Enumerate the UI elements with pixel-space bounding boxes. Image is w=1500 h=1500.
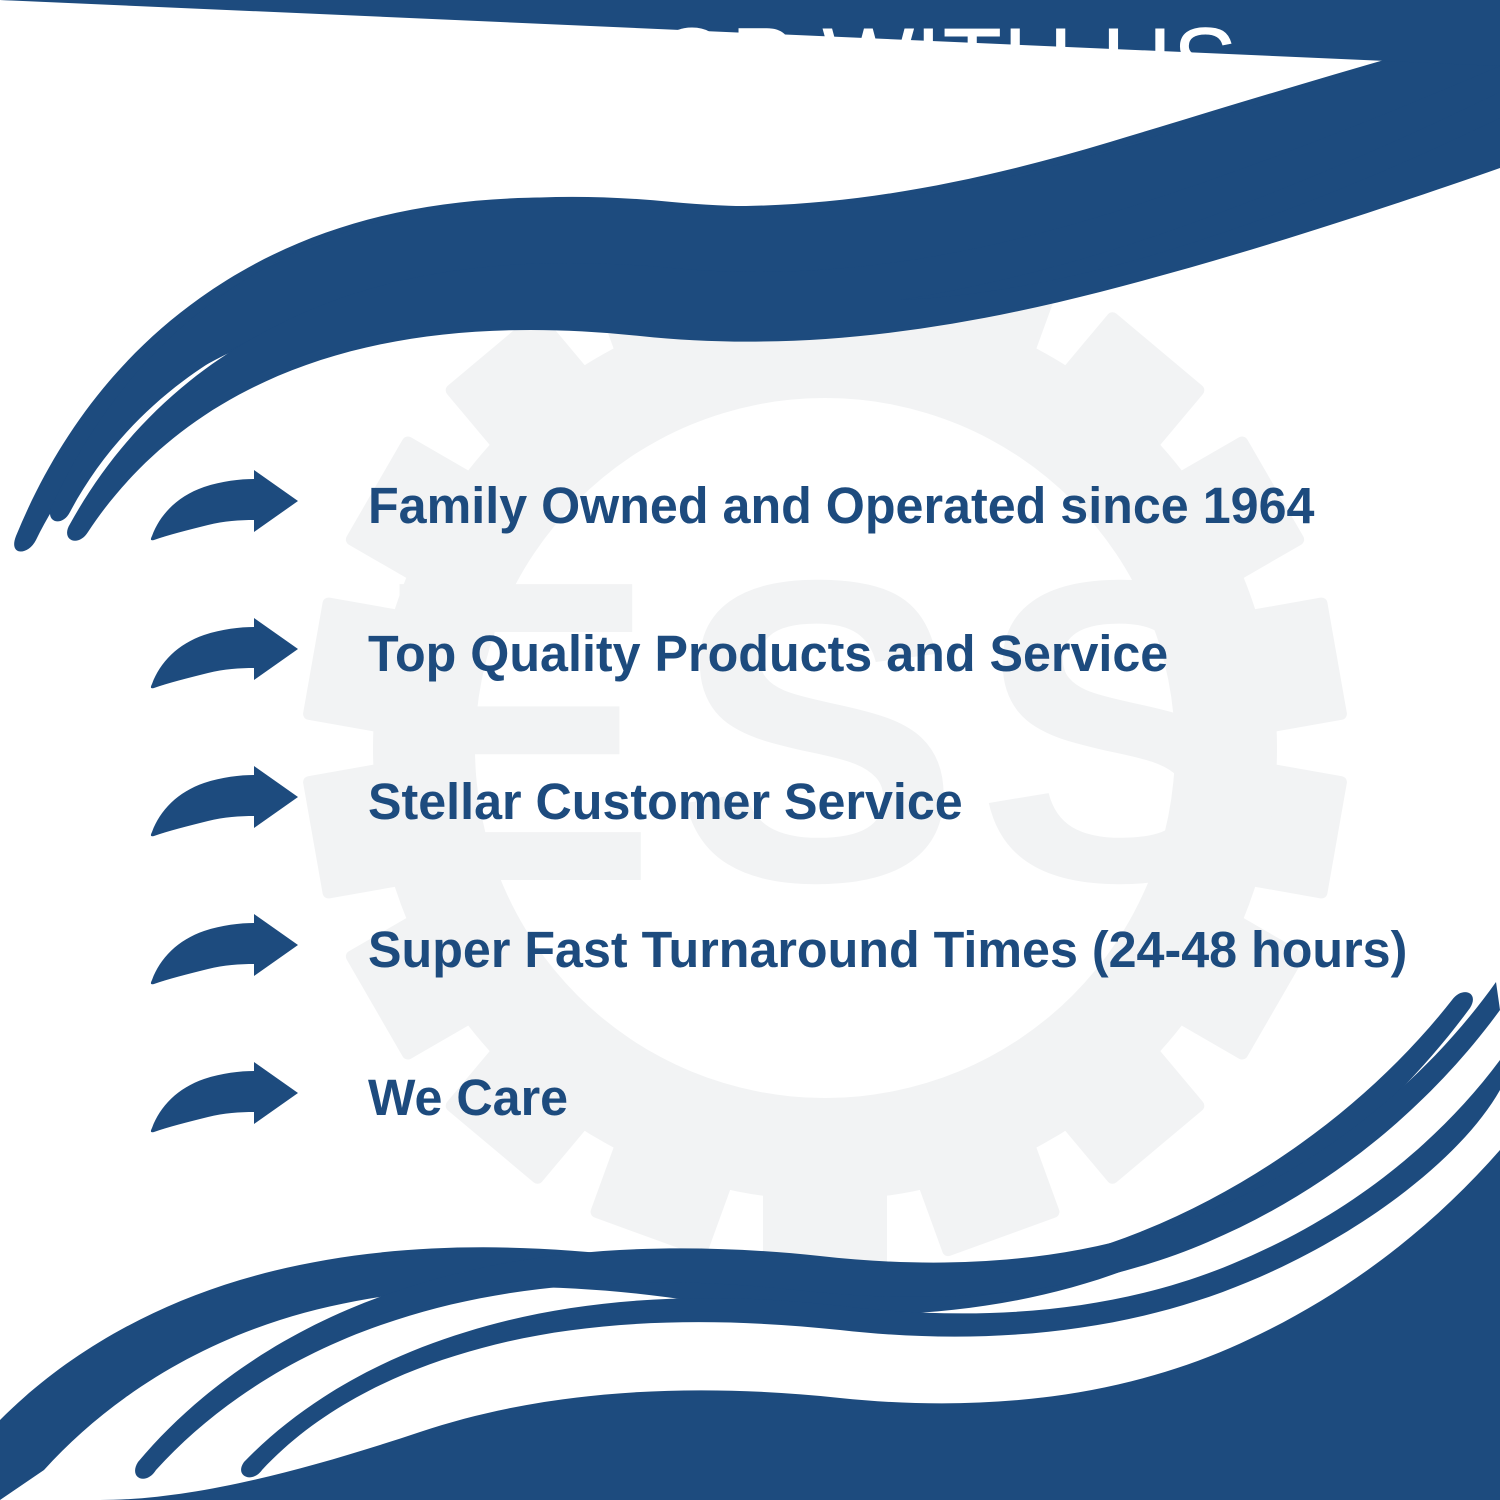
curved-arrow-right-icon — [150, 618, 300, 690]
list-item: Super Fast Turnaround Times (24-48 hours… — [150, 876, 1450, 1024]
list-item: Top Quality Products and Service — [150, 580, 1450, 728]
list-item: Family Owned and Operated since 1964 — [150, 432, 1450, 580]
list-item-label: We Care — [368, 1070, 1434, 1126]
curved-arrow-right-icon — [150, 766, 300, 838]
poster-canvas: ESS WHY SHOP WITH US Family Owned and Op… — [0, 0, 1500, 1500]
curved-arrow-right-icon — [150, 1062, 300, 1134]
list-item: Stellar Customer Service — [150, 728, 1450, 876]
list-item-label: Top Quality Products and Service — [368, 626, 1434, 682]
list-item-label: Family Owned and Operated since 1964 — [368, 478, 1434, 534]
curved-arrow-right-icon — [150, 914, 300, 986]
list-item: We Care — [150, 1024, 1450, 1172]
benefits-list: Family Owned and Operated since 1964 Top… — [150, 432, 1450, 1172]
page-title: WHY SHOP WITH US — [0, 10, 1500, 120]
curved-arrow-right-icon — [150, 470, 300, 542]
list-item-label: Super Fast Turnaround Times (24-48 hours… — [368, 922, 1434, 978]
list-item-label: Stellar Customer Service — [368, 774, 1434, 830]
page-title-text: WHY SHOP WITH US — [45, 10, 1455, 120]
